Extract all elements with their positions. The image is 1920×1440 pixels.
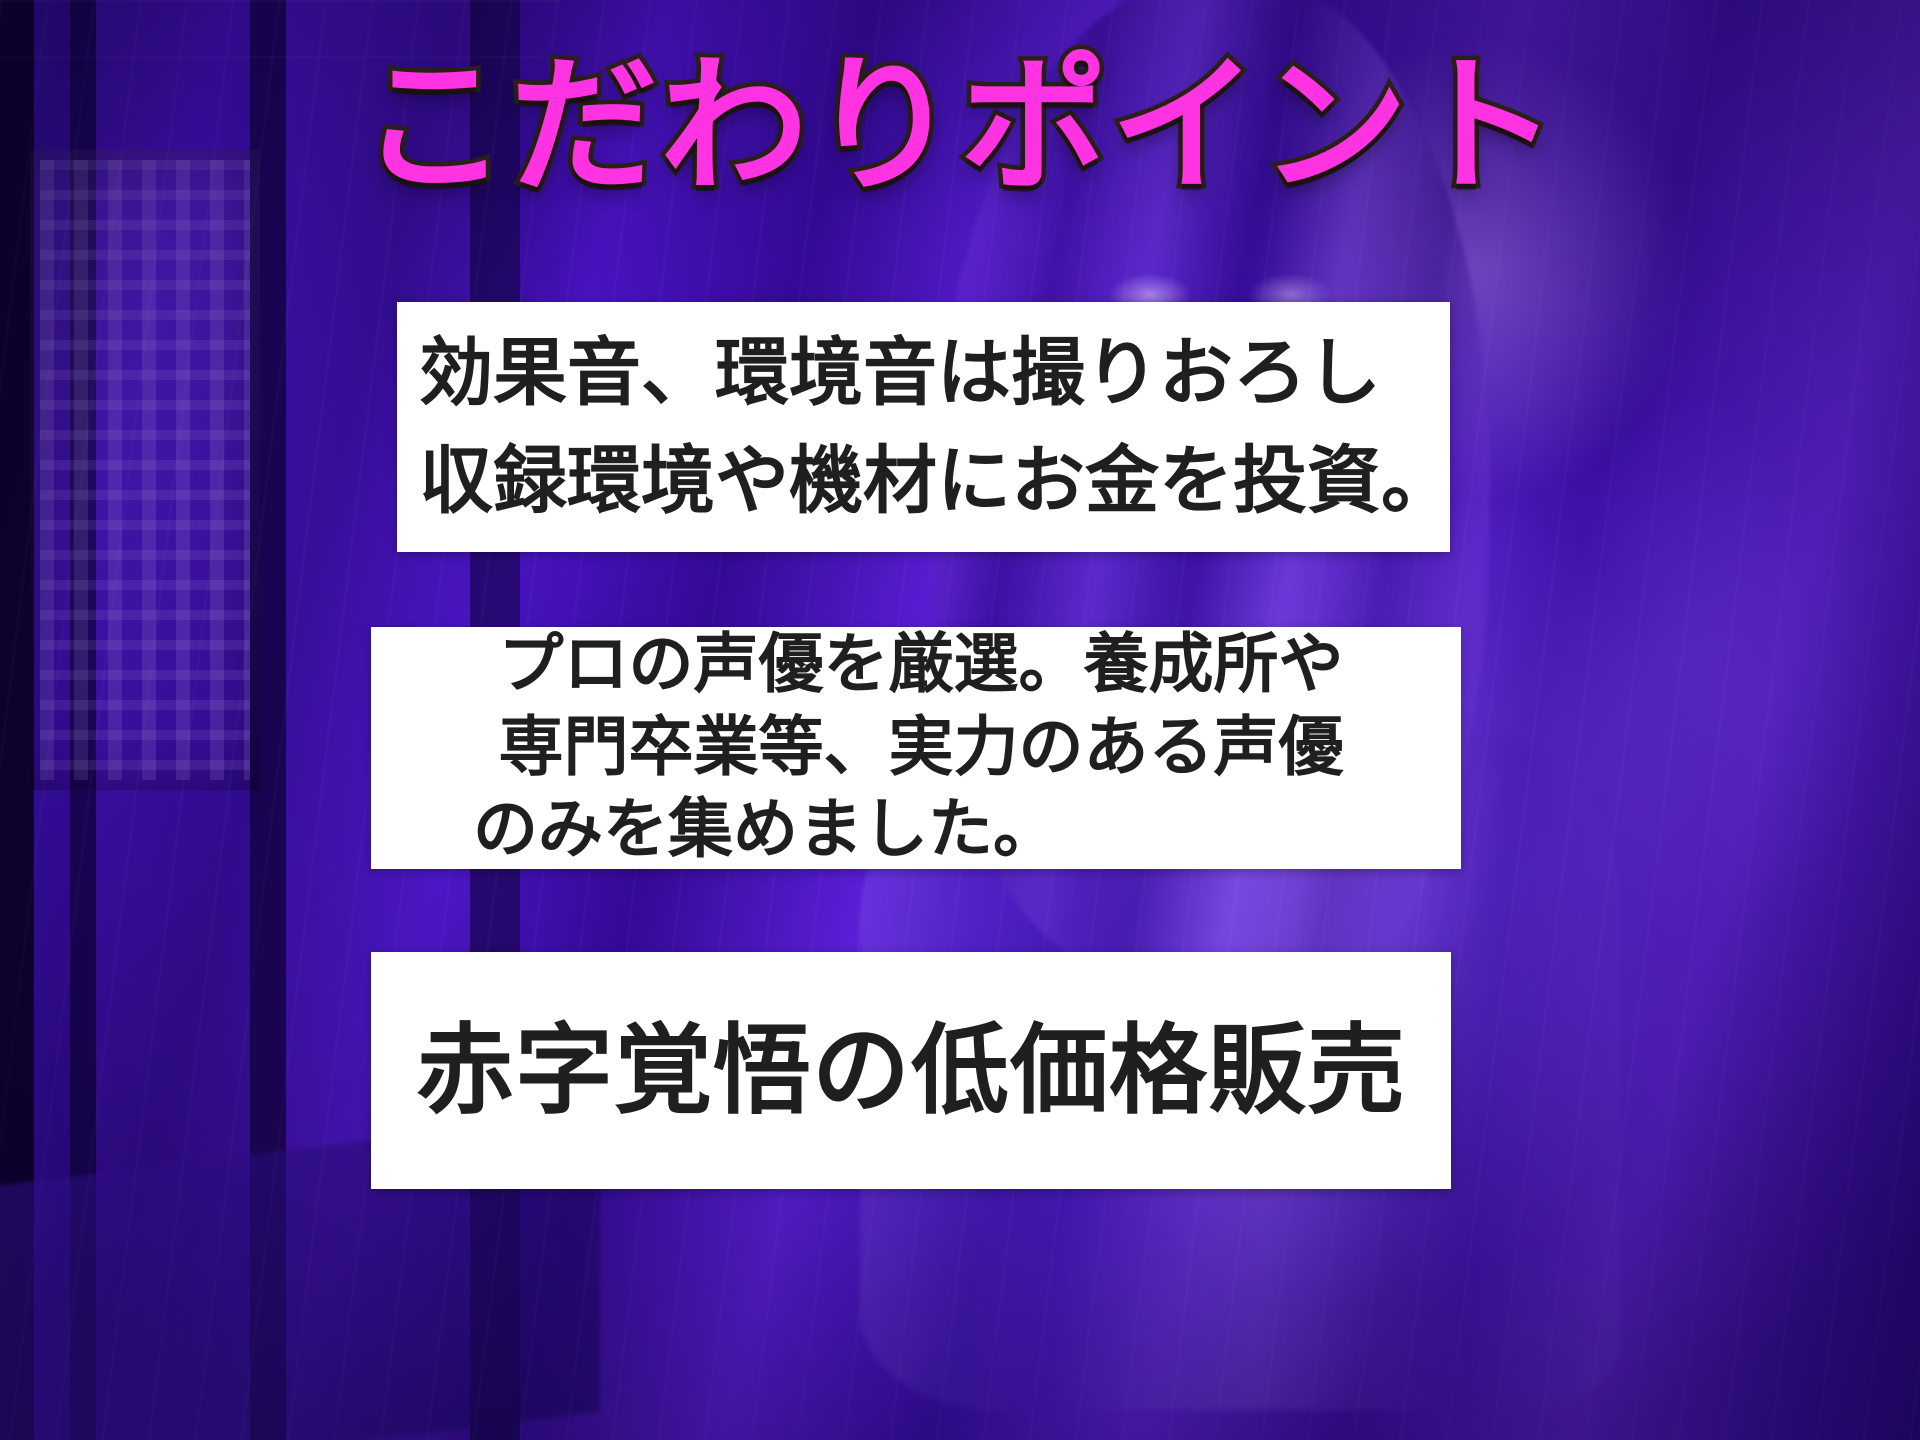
panel-line: 専門卒業等、実力のある声優 [381, 707, 1461, 790]
feature-panel-recording-quality: 効果音、環境音は撮りおろし 収録環境や機材にお金を投資。 [397, 302, 1450, 552]
promotional-slide: こだわりポイント 効果音、環境音は撮りおろし 収録環境や機材にお金を投資。 プロ… [0, 0, 1920, 1440]
page-title: こだわりポイント [0, 52, 1920, 200]
panel-line: プロの声優を厳選。養成所や [381, 624, 1461, 707]
feature-panel-voice-actor-selection: プロの声優を厳選。養成所や 専門卒業等、実力のある声優 のみを集めました。 [371, 627, 1461, 869]
panel-line: のみを集めました。 [381, 789, 1461, 872]
panel-line: 効果音、環境音は撮りおろし [419, 319, 1450, 427]
panel-line: 赤字覚悟の低価格販売 [371, 1022, 1451, 1120]
panel-line: 収録環境や機材にお金を投資。 [419, 427, 1450, 535]
feature-panel-low-price: 赤字覚悟の低価格販売 [371, 952, 1451, 1189]
